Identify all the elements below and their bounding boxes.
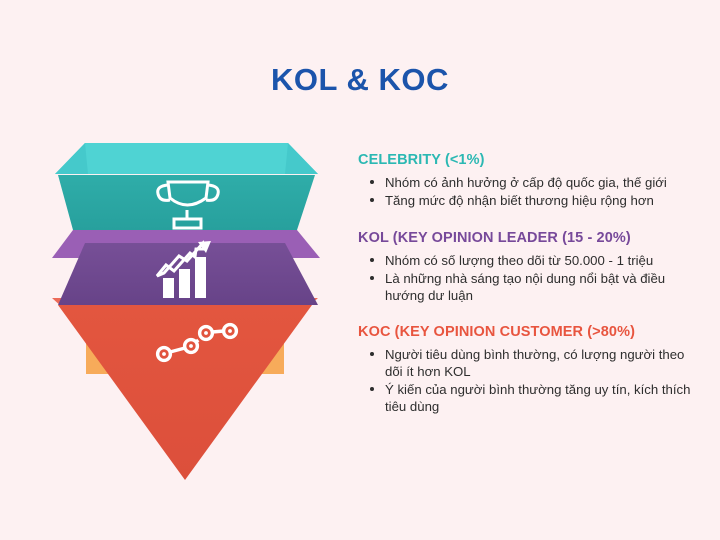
- section-kol: KOL (KEY OPINION LEADER (15 - 20%) Nhóm …: [352, 230, 692, 304]
- section-heading-koc: KOC (KEY OPINION CUSTOMER (>80%): [358, 324, 692, 340]
- bullet-list-kol: Nhóm có số lượng theo dõi từ 50.000 - 1 …: [352, 252, 692, 304]
- content-column: CELEBRITY (<1%) Nhóm có ảnh hưởng ở cấp …: [352, 152, 692, 428]
- section-koc: KOC (KEY OPINION CUSTOMER (>80%) Người t…: [352, 324, 692, 415]
- section-heading-kol: KOL (KEY OPINION LEADER (15 - 20%): [358, 230, 692, 246]
- funnel-graphic: [40, 130, 330, 500]
- list-item: Nhóm có số lượng theo dõi từ 50.000 - 1 …: [370, 252, 692, 269]
- page-title: KOL & KOC: [0, 62, 720, 98]
- slide-canvas: KOL & KOC: [0, 0, 720, 540]
- list-item: Ý kiến của người bình thường tăng uy tín…: [370, 381, 692, 415]
- list-item: Nhóm có ảnh hưởng ở cấp độ quốc gia, thế…: [370, 174, 692, 191]
- funnel-level-koc[interactable]: [52, 298, 318, 480]
- bullet-list-celebrity: Nhóm có ảnh hưởng ở cấp độ quốc gia, thế…: [352, 174, 692, 209]
- section-celebrity: CELEBRITY (<1%) Nhóm có ảnh hưởng ở cấp …: [352, 152, 692, 209]
- list-item: Là những nhà sáng tạo nội dung nổi bật v…: [370, 270, 692, 304]
- funnel-level-kol[interactable]: [52, 230, 320, 305]
- list-item: Người tiêu dùng bình thường, có lượng ng…: [370, 346, 692, 380]
- list-item: Tăng mức độ nhận biết thương hiệu rộng h…: [370, 192, 692, 209]
- section-heading-celebrity: CELEBRITY (<1%): [358, 152, 692, 168]
- funnel-level-celebrity[interactable]: [55, 143, 318, 230]
- bullet-list-koc: Người tiêu dùng bình thường, có lượng ng…: [352, 346, 692, 415]
